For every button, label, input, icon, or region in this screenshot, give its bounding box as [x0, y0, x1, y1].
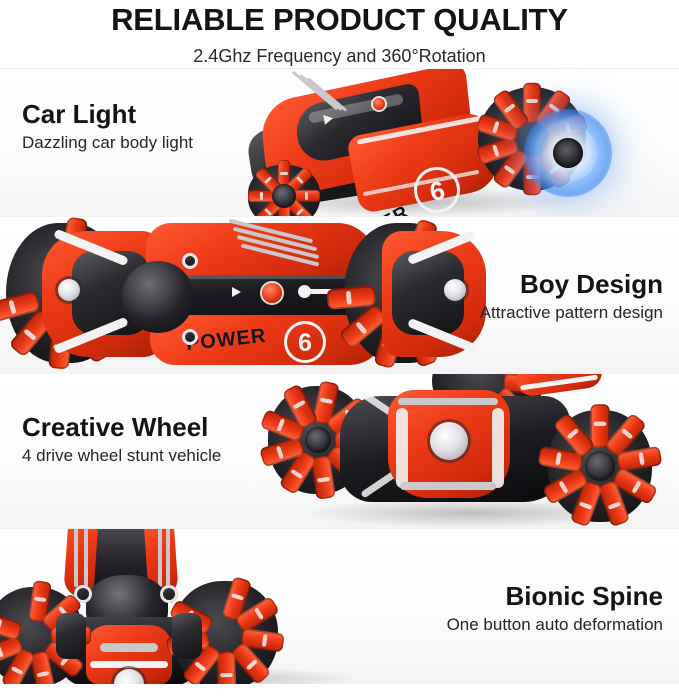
caption-title: Creative Wheel: [22, 412, 221, 442]
caption-subtitle: Attractive pattern design: [480, 302, 663, 324]
caption-subtitle: 4 drive wheel stunt vehicle: [22, 445, 221, 467]
number-six-badge: 6: [284, 321, 326, 363]
direction-marker: [232, 287, 241, 297]
feature-panel-bionic-spine: Bionic Spine One button auto deformation: [0, 528, 679, 684]
caption-subtitle: One button auto deformation: [447, 614, 663, 636]
led-glow-wheel: [520, 105, 616, 201]
caption-creative-wheel: Creative Wheel 4 drive wheel stunt vehic…: [22, 412, 221, 467]
direction-marker: [323, 113, 334, 124]
page-title: RELIABLE PRODUCT QUALITY: [0, 2, 679, 38]
caption-car-light: Car Light Dazzling car body light: [22, 99, 193, 154]
feature-panel-boy-design: POWER 6: [0, 216, 679, 373]
page-subtitle: 2.4Ghz Frequency and 360°Rotation: [0, 44, 679, 68]
feature-panel-creative-wheel: Creative Wheel 4 drive wheel stunt vehic…: [0, 373, 679, 528]
feature-panel-list: POWER 6: [0, 68, 679, 684]
caption-boy-design: Boy Design Attractive pattern design: [480, 269, 663, 324]
product-header: RELIABLE PRODUCT QUALITY 2.4Ghz Frequenc…: [0, 0, 679, 68]
caption-bionic-spine: Bionic Spine One button auto deformation: [447, 581, 663, 636]
caption-title: Bionic Spine: [447, 581, 663, 611]
feature-panel-car-light: POWER 6: [0, 68, 679, 216]
battery-hatch-screw: [430, 422, 468, 460]
front-wheel: [248, 165, 320, 216]
caption-title: Boy Design: [480, 269, 663, 299]
caption-subtitle: Dazzling car body light: [22, 132, 193, 154]
right-drive-wheel: [548, 410, 652, 522]
left-hub-lamp: [58, 279, 80, 301]
right-hub-lamp: [444, 279, 466, 301]
caption-title: Car Light: [22, 99, 193, 129]
top-button: [373, 98, 385, 110]
center-power-button: [262, 283, 282, 303]
